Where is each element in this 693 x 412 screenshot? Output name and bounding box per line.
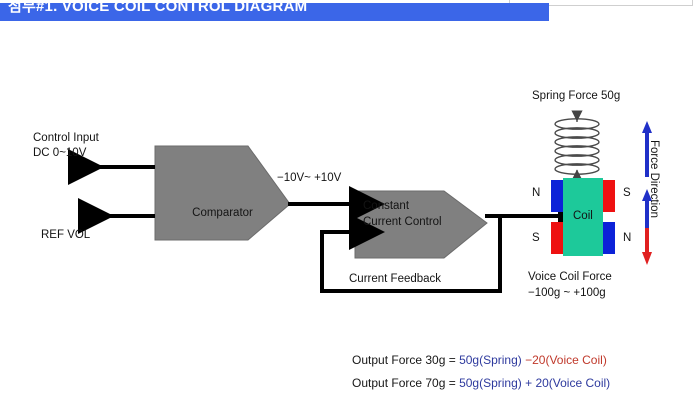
constant-current-control-label-line1: Constant <box>363 199 473 214</box>
magnet-south-top <box>603 180 615 212</box>
comparator-output-label: −10V~ +10V <box>277 171 341 185</box>
ref-vol-label: REF VOL <box>41 228 90 242</box>
control-input-label-line2: DC 0~10V <box>33 146 86 160</box>
magnet-north-top <box>551 180 563 212</box>
comparator-block <box>155 146 290 240</box>
pole-label-north-bottom: N <box>623 232 631 244</box>
control-input-label-line1: Control Input <box>33 131 99 145</box>
formula-prefix: Output Force 70g = <box>352 376 459 390</box>
pole-label-north-top: N <box>532 187 540 199</box>
formula-prefix: Output Force 30g = <box>352 353 459 367</box>
formula-list: Output Force 30g = 50g(Spring) −20(Voice… <box>352 349 610 395</box>
force-direction-label: Force Direction <box>648 140 660 218</box>
pole-label-south-top: S <box>623 187 631 199</box>
spring-graphic <box>555 113 599 179</box>
voice-coil-force-label-line1: Voice Coil Force <box>528 270 612 284</box>
comparator-label: Comparator <box>175 206 270 221</box>
formula-row: Output Force 30g = 50g(Spring) −20(Voice… <box>352 349 610 372</box>
formula-coil-term: + 20(Voice Coil) <box>522 376 610 390</box>
current-feedback-label: Current Feedback <box>349 272 441 286</box>
magnet-north-bottom <box>603 222 615 254</box>
constant-current-control-label-line2: Current Control <box>363 215 473 230</box>
spring-force-label: Spring Force 50g <box>532 89 620 103</box>
formula-row: Output Force 70g = 50g(Spring) + 20(Voic… <box>352 372 610 395</box>
formula-spring-term: 50g(Spring) <box>459 353 522 367</box>
formula-spring-term: 50g(Spring) <box>459 376 522 390</box>
magnet-south-bottom <box>551 222 563 254</box>
pole-label-south-bottom: S <box>532 232 540 244</box>
voice-coil-force-label-line2: −100g ~ +100g <box>528 286 606 300</box>
formula-coil-term: −20(Voice Coil) <box>522 353 607 367</box>
coil-label: Coil <box>573 210 593 222</box>
